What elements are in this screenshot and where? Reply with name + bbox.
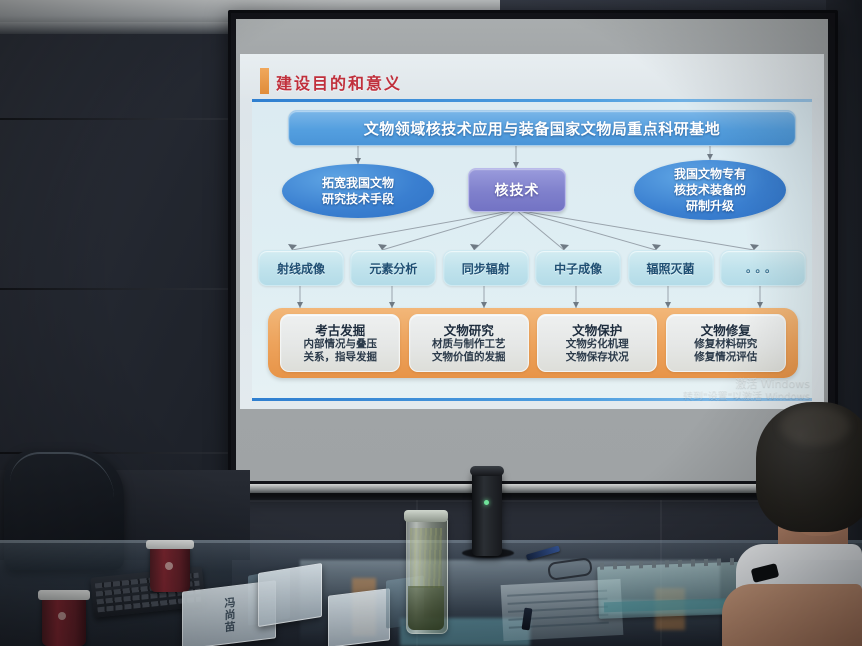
- windows-activation-line-1: 激活 Windows: [683, 377, 810, 390]
- technique-chip-2[interactable]: 同步辐射: [443, 250, 529, 286]
- technique-chip-ellipsis-label: 。。。: [746, 260, 780, 276]
- goal-right-line-1: 我国文物专有: [674, 166, 746, 182]
- screenshot-root: 建设目的和意义: [0, 0, 862, 646]
- application-box-3[interactable]: 文物修复 修复材料研究 修复情况评估: [666, 314, 786, 372]
- technique-chip-4-label: 辐照灭菌: [647, 260, 695, 277]
- paper-cup-left-lid: [38, 590, 90, 600]
- paper-cup-right-logo: [165, 562, 173, 570]
- technique-row: 射线成像 元素分析 同步辐射 中子成像 辐照灭菌 。。。: [258, 250, 806, 286]
- name-placard-3[interactable]: [328, 588, 390, 646]
- application-box-2-heading: 文物保护: [572, 323, 622, 338]
- title-accent-bar: [260, 68, 269, 94]
- slide-section-title: 建设目的和意义: [276, 70, 402, 94]
- paper-cup-right-lid: [146, 540, 194, 549]
- presentation-slide[interactable]: 建设目的和意义: [240, 54, 824, 409]
- person-hair-highlight: [780, 406, 850, 446]
- application-box-3-line-1: 修复材料研究: [694, 338, 757, 351]
- application-box-0-heading: 考古发掘: [315, 323, 365, 338]
- application-box-2-line-2: 文物保存状况: [566, 351, 629, 364]
- technique-chip-ellipsis[interactable]: 。。。: [720, 250, 806, 286]
- core-technology-box[interactable]: 核技术: [468, 168, 566, 212]
- technique-chip-0-label: 射线成像: [277, 260, 325, 277]
- slide-body: 文物领域核技术应用与装备国家文物局重点科研基地 拓宽我国文物 研究技术手段 核技…: [252, 102, 812, 398]
- application-box-0[interactable]: 考古发掘 内部情况与叠压 关系，指导发掘: [280, 314, 400, 372]
- application-band: 考古发掘 内部情况与叠压 关系，指导发掘 文物研究 材质与制作工艺 文物价值的发…: [268, 308, 798, 378]
- application-box-1-line-1: 材质与制作工艺: [432, 338, 506, 351]
- technique-chip-2-label: 同步辐射: [462, 260, 510, 277]
- application-box-2-line-1: 文物劣化机理: [566, 338, 629, 351]
- goal-right-line-2: 核技术装备的: [674, 182, 746, 198]
- name-placard-1-text: 冯尚苗: [221, 596, 237, 634]
- technique-chip-3[interactable]: 中子成像: [535, 250, 621, 286]
- goal-right-line-3: 研制升级: [686, 198, 734, 214]
- screen-bottom-bar: [216, 484, 836, 493]
- thermos-tea-leaves-upper: [410, 528, 442, 588]
- application-box-3-heading: 文物修复: [701, 323, 751, 338]
- thermos-tea-leaves: [408, 586, 444, 630]
- technique-chip-1[interactable]: 元素分析: [350, 250, 436, 286]
- thermos-cap[interactable]: [404, 510, 448, 522]
- application-box-1-line-2: 文物价值的发掘: [432, 351, 506, 364]
- technique-chip-0[interactable]: 射线成像: [258, 250, 344, 286]
- base-title-text: 文物领域核技术应用与装备国家文物局重点科研基地: [364, 118, 721, 139]
- application-box-0-line-2: 关系，指导发掘: [304, 351, 378, 364]
- technique-chip-3-label: 中子成像: [554, 260, 602, 277]
- application-box-1[interactable]: 文物研究 材质与制作工艺 文物价值的发掘: [409, 314, 529, 372]
- base-title-box[interactable]: 文物领域核技术应用与装备国家文物局重点科研基地: [288, 110, 796, 146]
- goal-left-line-2: 研究技术手段: [322, 191, 394, 207]
- windows-activation-watermark: 激活 Windows 转到"设置"以激活 Windows: [683, 377, 810, 403]
- technique-chip-1-label: 元素分析: [369, 260, 417, 277]
- paper-cup-left[interactable]: [42, 596, 86, 646]
- core-technology-label: 核技术: [495, 180, 540, 200]
- application-box-1-heading: 文物研究: [444, 323, 494, 338]
- name-placard-2[interactable]: [258, 563, 322, 627]
- microphone-top: [470, 466, 504, 476]
- application-box-3-line-2: 修复情况评估: [694, 351, 757, 364]
- person-arm: [722, 584, 862, 646]
- technique-chip-4[interactable]: 辐照灭菌: [628, 250, 714, 286]
- paper-cup-left-logo: [58, 612, 66, 620]
- goal-left-line-1: 拓宽我国文物: [322, 175, 394, 191]
- office-chair-rim: [10, 452, 114, 524]
- goal-ellipse-left[interactable]: 拓宽我国文物 研究技术手段: [282, 164, 434, 218]
- application-box-0-line-1: 内部情况与叠压: [304, 338, 378, 351]
- application-box-2[interactable]: 文物保护 文物劣化机理 文物保存状况: [537, 314, 657, 372]
- goal-ellipse-right[interactable]: 我国文物专有 核技术装备的 研制升级: [634, 160, 786, 220]
- conference-microphone[interactable]: [472, 470, 502, 556]
- windows-activation-line-2: 转到"设置"以激活 Windows: [683, 390, 810, 403]
- microphone-led-icon: [484, 500, 489, 505]
